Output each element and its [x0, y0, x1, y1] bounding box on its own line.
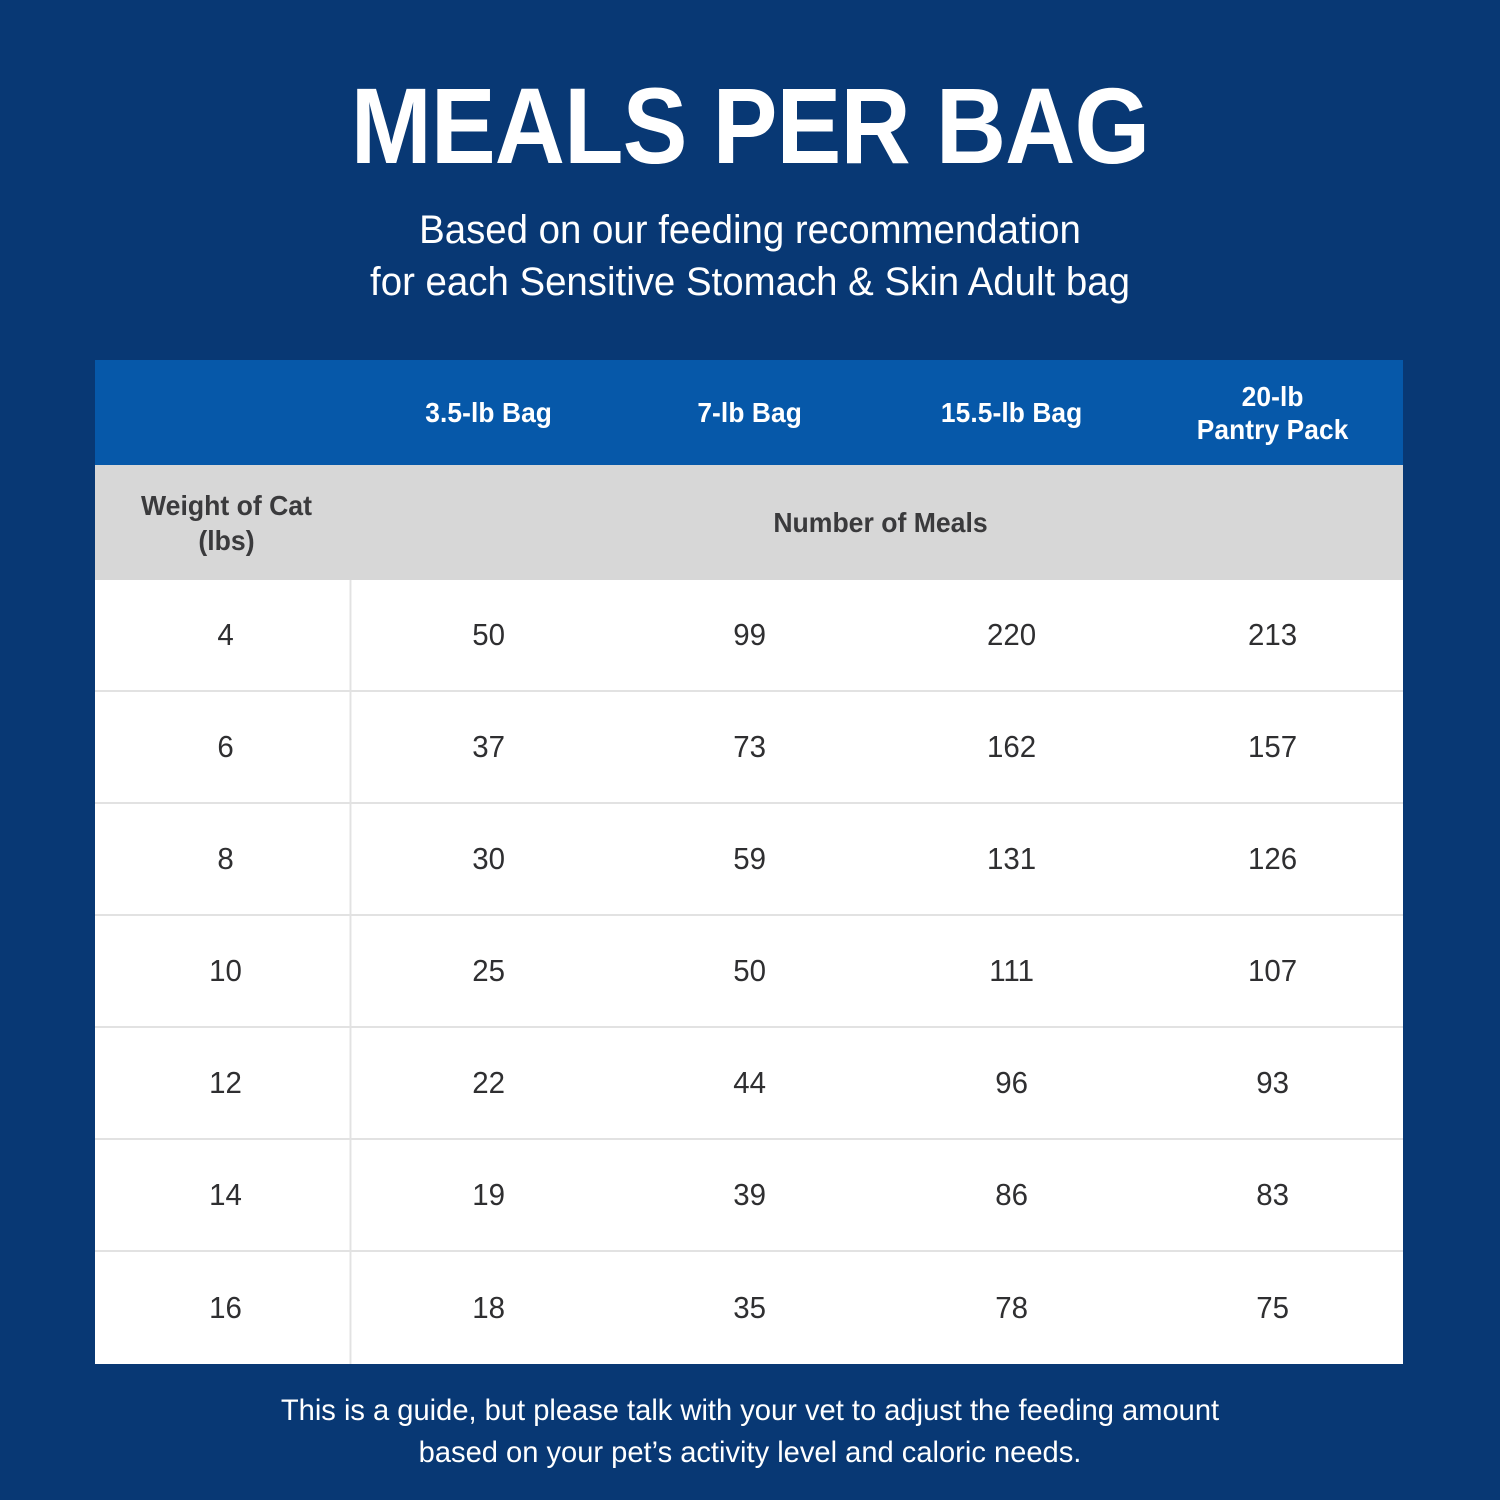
cell-meals-20lb-pantry: 213 [1148, 580, 1396, 690]
cell-weight: 6 [102, 692, 352, 802]
cell-meals-3-5lb: 37 [365, 692, 613, 802]
heading-block: MEALS PER BAG Based on our feeding recom… [0, 72, 1500, 308]
footer-line-2: based on your pet’s activity level and c… [23, 1432, 1478, 1474]
cell-meals-7lb: 99 [626, 580, 874, 690]
cell-meals-3-5lb: 22 [365, 1028, 613, 1138]
cell-meals-3-5lb: 25 [365, 916, 613, 1026]
cell-meals-7lb: 73 [626, 692, 874, 802]
cell-meals-3-5lb: 50 [365, 580, 613, 690]
feeding-chart-page: MEALS PER BAG Based on our feeding recom… [0, 0, 1500, 1500]
column-header-bag-1: 7-lb Bag [627, 360, 873, 465]
bag-header-spacer [95, 360, 358, 465]
cell-meals-15-5lb: 220 [887, 580, 1135, 690]
cell-meals-20lb-pantry: 157 [1148, 692, 1396, 802]
column-header-weight-line2: (lbs) [198, 525, 254, 556]
cell-meals-15-5lb: 96 [887, 1028, 1135, 1138]
cell-weight: 12 [102, 1028, 352, 1138]
page-title: MEALS PER BAG [75, 72, 1425, 180]
cell-meals-7lb: 35 [626, 1252, 874, 1364]
meals-per-bag-table: 3.5-lb Bag 7-lb Bag 15.5-lb Bag 20-lb Pa… [95, 360, 1403, 1364]
cell-meals-15-5lb: 78 [887, 1252, 1135, 1364]
column-header-bag-3-line2: Pantry Pack [1196, 414, 1348, 445]
cell-meals-15-5lb: 86 [887, 1140, 1135, 1250]
cell-meals-3-5lb: 19 [365, 1140, 613, 1250]
column-header-number-of-meals: Number of Meals [384, 465, 1377, 580]
bag-size-header-row: 3.5-lb Bag 7-lb Bag 15.5-lb Bag 20-lb Pa… [95, 360, 1403, 465]
cell-weight: 14 [102, 1140, 352, 1250]
column-header-bag-1-line1: 7-lb Bag [698, 397, 803, 428]
column-header-bag-2-line1: 15.5-lb Bag [940, 397, 1081, 428]
cell-meals-7lb: 39 [626, 1140, 874, 1250]
cell-meals-7lb: 44 [626, 1028, 874, 1138]
subtitle-line-1: Based on our feeding recommendation [30, 204, 1470, 256]
column-header-bag-3: 20-lb Pantry Pack [1150, 360, 1396, 465]
table-body: 4 50 99 220 213 6 37 73 162 157 8 30 59 … [95, 580, 1403, 1364]
column-header-bag-0: 3.5-lb Bag [366, 360, 612, 465]
table-row: 16 18 35 78 75 [95, 1252, 1403, 1364]
table-row: 14 19 39 86 83 [95, 1140, 1403, 1252]
table-row: 8 30 59 131 126 [95, 804, 1403, 916]
meals-subheader-row: Weight of Cat (lbs) Number of Meals [95, 465, 1403, 580]
cell-meals-20lb-pantry: 107 [1148, 916, 1396, 1026]
page-subtitle: Based on our feeding recommendation for … [30, 204, 1470, 308]
cell-meals-20lb-pantry: 83 [1148, 1140, 1396, 1250]
cell-weight: 4 [102, 580, 352, 690]
cell-meals-15-5lb: 131 [887, 804, 1135, 914]
table-row: 10 25 50 111 107 [95, 916, 1403, 1028]
column-header-bag-0-line1: 3.5-lb Bag [425, 397, 552, 428]
column-header-weight: Weight of Cat (lbs) [102, 465, 352, 580]
column-header-weight-line1: Weight of Cat [141, 490, 312, 521]
table-row: 12 22 44 96 93 [95, 1028, 1403, 1140]
cell-meals-20lb-pantry: 93 [1148, 1028, 1396, 1138]
subtitle-line-2: for each Sensitive Stomach & Skin Adult … [30, 256, 1470, 308]
cell-weight: 16 [102, 1252, 352, 1364]
footer-line-1: This is a guide, but please talk with yo… [23, 1390, 1478, 1432]
cell-meals-20lb-pantry: 126 [1148, 804, 1396, 914]
cell-weight: 8 [102, 804, 352, 914]
cell-meals-15-5lb: 111 [887, 916, 1135, 1026]
table-row: 6 37 73 162 157 [95, 692, 1403, 804]
cell-meals-7lb: 59 [626, 804, 874, 914]
cell-meals-3-5lb: 30 [365, 804, 613, 914]
cell-meals-7lb: 50 [626, 916, 874, 1026]
cell-meals-20lb-pantry: 75 [1148, 1252, 1396, 1364]
column-header-bag-3-line1: 20-lb [1241, 381, 1303, 412]
cell-meals-3-5lb: 18 [365, 1252, 613, 1364]
table-row: 4 50 99 220 213 [95, 580, 1403, 692]
cell-weight: 10 [102, 916, 352, 1026]
cell-meals-15-5lb: 162 [887, 692, 1135, 802]
column-header-bag-2: 15.5-lb Bag [888, 360, 1134, 465]
footer-disclaimer: This is a guide, but please talk with yo… [23, 1390, 1478, 1474]
